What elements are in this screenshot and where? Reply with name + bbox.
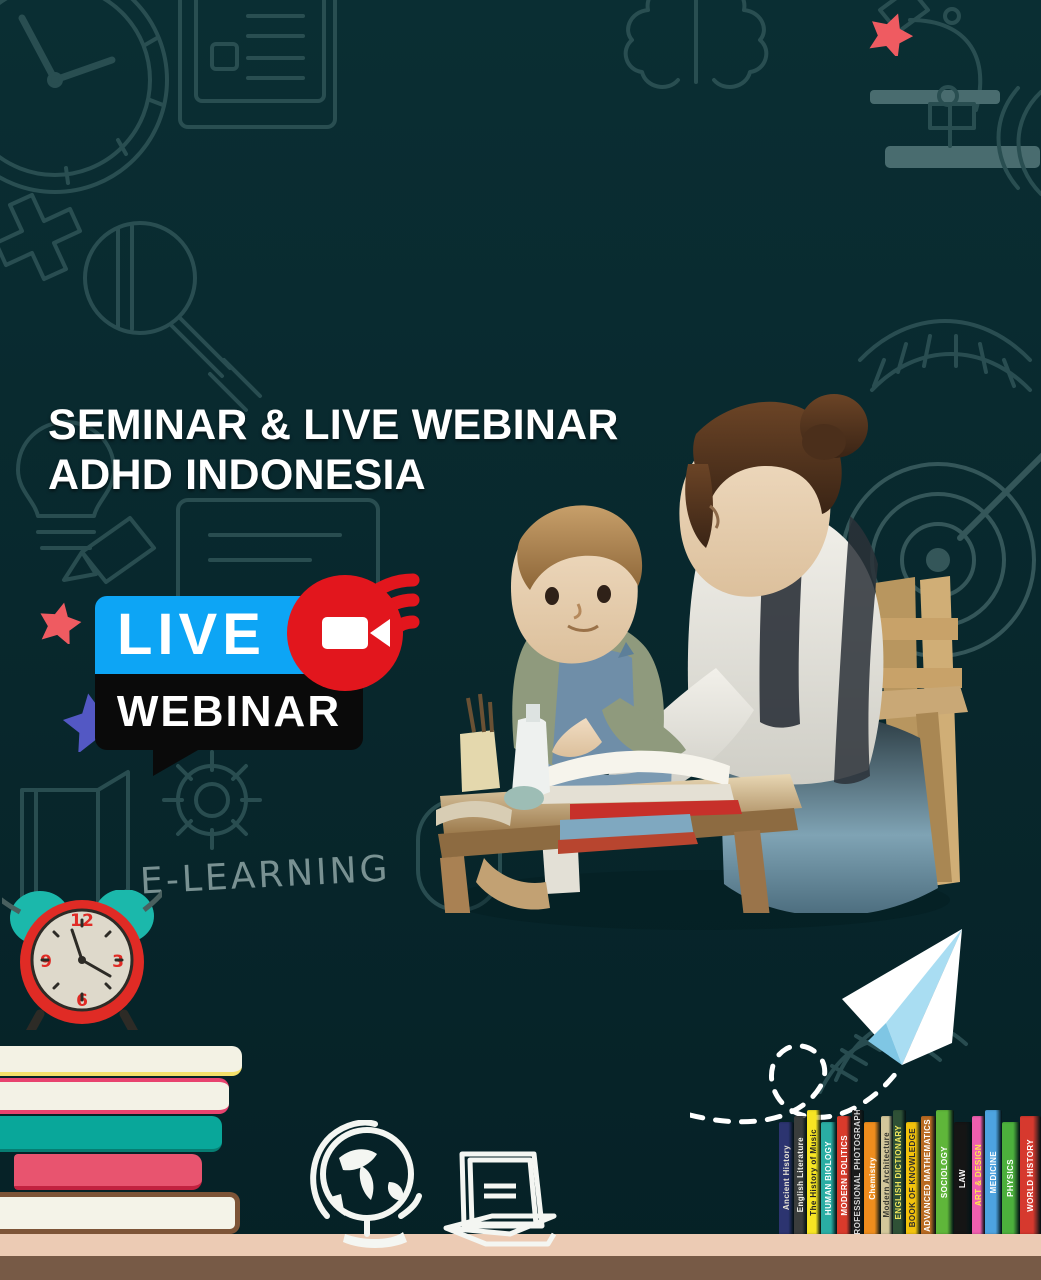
book-spine-title: LAW	[959, 1169, 967, 1188]
book-spine-title: PHYSICS	[1007, 1159, 1015, 1197]
book-spine: ENGLISH DICTIONARY	[893, 1110, 906, 1234]
book-spine: English Literature	[794, 1116, 807, 1234]
book-spine: HUMAN BIOLOGY	[821, 1122, 837, 1234]
svg-text:9: 9	[40, 952, 52, 972]
book-spine-title: WORLD HISTORY	[1027, 1139, 1035, 1212]
book-spine: WORLD HISTORY	[1020, 1116, 1041, 1234]
book-spine-title: BOOK OF KNOWLEDGE	[909, 1128, 917, 1227]
book-spine-title: Chemistry	[869, 1157, 877, 1200]
badge-webinar-label: WEBINAR	[117, 690, 341, 734]
book-spine-title: ENGLISH DICTIONARY	[895, 1125, 903, 1219]
book-spine-title: English Literature	[797, 1137, 805, 1212]
book-spine-title: SOCIOLOGY	[941, 1146, 949, 1198]
shelf-edge	[0, 1256, 1041, 1280]
title-line-1: SEMINAR & LIVE WEBINAR	[48, 400, 619, 450]
poster-canvas: SEMINAR & LIVE WEBINAR ADHD INDONESIA	[0, 0, 1041, 1280]
book-teal	[0, 1116, 222, 1152]
record-circle[interactable]	[287, 575, 403, 691]
book-spine-title: Modern Architecture	[883, 1132, 891, 1218]
book-stack	[0, 1046, 242, 1234]
alarm-clock-icon: 123 69	[2, 890, 162, 1030]
badge-tail	[153, 746, 205, 776]
book-spine-title: HUMAN BIOLOGY	[825, 1141, 833, 1215]
live-webinar-badge[interactable]: LIVE WEBINAR	[95, 578, 395, 768]
book-spine: MEDICINE	[985, 1110, 1002, 1234]
book-row: Ancient HistoryEnglish LiteratureThe His…	[779, 1104, 1041, 1234]
book-spine: ART & DESIGN	[972, 1116, 985, 1234]
page-title: SEMINAR & LIVE WEBINAR ADHD INDONESIA	[48, 400, 619, 500]
video-camera-icon	[322, 617, 368, 649]
book-spine: PROFESSIONAL PHOTOGRAPHY	[852, 1110, 864, 1234]
book-spine: Modern Architecture	[881, 1116, 892, 1234]
book-cream-pink	[0, 1078, 229, 1114]
book-spine-title: ART & DESIGN	[975, 1144, 983, 1206]
book-cream-yellow	[0, 1046, 242, 1076]
book-spine: PHYSICS	[1002, 1122, 1020, 1234]
book-spine: The History of Music	[807, 1110, 821, 1234]
book-spine: LAW	[954, 1122, 973, 1234]
title-line-2: ADHD INDONESIA	[48, 450, 619, 500]
book-spine-title: MEDICINE	[990, 1151, 998, 1193]
star-red-top-icon	[868, 10, 914, 56]
book-spine-title: ADVANCED MATHEMATICS	[924, 1119, 932, 1232]
book-spine: Chemistry	[864, 1122, 881, 1234]
svg-text:3: 3	[112, 952, 124, 972]
badge-live-label: LIVE	[117, 606, 266, 664]
book-spine-title: PROFESSIONAL PHOTOGRAPHY	[854, 1110, 862, 1234]
book-spine: BOOK OF KNOWLEDGE	[906, 1122, 921, 1234]
book-spine: MODERN POLITICS	[837, 1116, 852, 1234]
book-spine: ADVANCED MATHEMATICS	[921, 1116, 936, 1234]
globe-chalk-icon	[305, 1120, 435, 1250]
book-spine: SOCIOLOGY	[936, 1110, 954, 1234]
book-rose	[14, 1154, 202, 1190]
book-cream-brown	[0, 1192, 240, 1234]
book-spine-title: The History of Music	[810, 1129, 818, 1216]
open-book-chalk-icon	[440, 1132, 565, 1252]
book-spine: Ancient History	[779, 1122, 794, 1234]
star-red-icon	[38, 600, 82, 644]
book-spine-title: MODERN POLITICS	[841, 1135, 849, 1216]
book-spine-title: Ancient History	[783, 1145, 791, 1210]
